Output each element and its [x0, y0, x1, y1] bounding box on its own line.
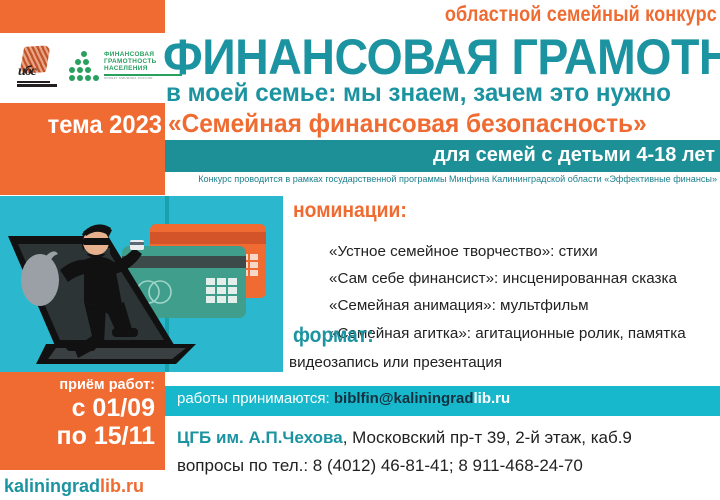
logo-rule-upper	[17, 81, 50, 83]
poster-root: ибс ФИНАНСОВАЯ ГРАМОТНОСТЬ НАСЕЛЕНИЯ ПРО…	[0, 0, 720, 500]
page-subtitle: в моей семье: мы знаем, зачем это нужно	[166, 81, 701, 106]
format-value: видеозапись или презентация	[289, 355, 502, 370]
nominations-heading: номинации:	[293, 200, 407, 221]
website-url[interactable]: kaliningradlib.ru	[4, 477, 174, 495]
dot-pyramid-icon	[69, 51, 99, 81]
website-url-head: kaliningrad	[4, 476, 100, 496]
library-system-logo-icon: ибс	[14, 44, 60, 88]
theme-year-label: тема 2023	[8, 113, 162, 138]
nomination-item: «Сам себе финансист»: инсценированная ск…	[329, 271, 714, 286]
submission-email[interactable]: biblfin@kaliningradlib.ru	[334, 390, 510, 407]
format-heading: формат:	[293, 325, 374, 346]
stolen-card-in-hand-icon	[130, 240, 144, 250]
page-title: ФИНАНСОВАЯ ГРАМОТНОСТЬ	[163, 32, 680, 82]
library-address: , Московский пр-т 39, 2-й этаж, каб.9	[343, 428, 632, 447]
submission-label: работы принимаются:	[177, 390, 330, 407]
deadline-end: по 15/11	[0, 424, 155, 449]
nomination-item: «Семейная анимация»: мультфильм	[329, 298, 714, 313]
audience-text: для семей с детьми 4-18 лет	[165, 145, 715, 165]
website-url-tail: lib.ru	[100, 476, 144, 496]
nomination-item: «Семейная агитка»: агитационные ролик, п…	[329, 326, 714, 341]
programme-note: Конкурс проводится в рамках государствен…	[165, 175, 717, 184]
orange-block-top-left	[0, 0, 165, 33]
nomination-item: «Устное семейное творчество»: стихи	[329, 244, 714, 259]
submission-email-tail: lib.ru	[474, 390, 511, 407]
contact-address-line: ЦГБ им. А.П.Чехова, Московский пр-т 39, …	[177, 429, 632, 446]
contact-phones-line: вопросы по тел.: 8 (4012) 46-81-41; 8 91…	[177, 457, 583, 474]
library-name: ЦГБ им. А.П.Чехова	[177, 428, 343, 447]
deadline-label: приём работ:	[0, 378, 155, 393]
kicker-text: областной семейный конкурс	[242, 4, 717, 25]
illustration-svg	[0, 196, 283, 372]
theme-title: «Семейная финансовая безопасность»	[168, 110, 687, 136]
logo-row: ибс ФИНАНСОВАЯ ГРАМОТНОСТЬ НАСЕЛЕНИЯ ПРО…	[14, 40, 164, 92]
submission-email-head: biblfin@kaliningrad	[334, 390, 474, 407]
deadline-start: с 01/09	[0, 396, 155, 421]
library-initials: ибс	[18, 64, 36, 80]
logo-rule-lower	[17, 84, 57, 87]
hacker-laptop-illustration	[0, 196, 283, 372]
submission-line: работы принимаются: biblfin@kaliningradl…	[177, 391, 510, 406]
